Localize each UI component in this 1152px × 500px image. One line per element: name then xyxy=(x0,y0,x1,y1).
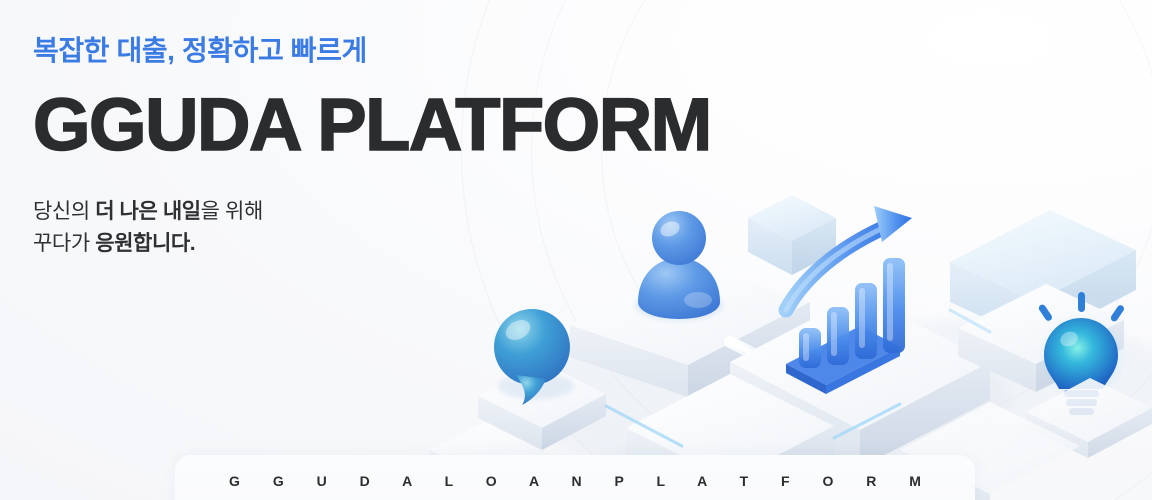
chart-bar xyxy=(855,283,877,359)
chart-bar xyxy=(827,307,849,365)
hero-tagline: 복잡한 대출, 정확하고 빠르게 xyxy=(33,34,711,68)
subtitle-line-2: 꾸다가 응원합니다. xyxy=(33,228,711,260)
subtitle-line2-normal: 꾸다가 xyxy=(33,232,95,255)
gguda-platform-hero-banner: 복잡한 대출, 정확하고 빠르게 GGUDA PLATFORM 당신의 더 나은… xyxy=(0,0,1152,500)
subtitle-line1-emphasis: 더 나은 내일 xyxy=(95,200,200,223)
chart-bar xyxy=(883,258,905,353)
subtitle-line-1: 당신의 더 나은 내일을 위해 xyxy=(33,196,711,228)
bulb-ray xyxy=(1078,292,1085,312)
speech-bubble-3d-icon xyxy=(494,309,574,405)
subtitle-line1-tail: 을 위해 xyxy=(201,200,263,223)
page-title: GGUDA PLATFORM xyxy=(33,88,711,162)
subtitle-line2-emphasis: 응원합니다. xyxy=(95,232,195,255)
hero-subtitle: 당신의 더 나은 내일을 위해 꾸다가 응원합니다. xyxy=(33,196,711,260)
chart-bar xyxy=(799,328,821,368)
hero-copy-block: 복잡한 대출, 정확하고 빠르게 GGUDA PLATFORM 당신의 더 나은… xyxy=(33,34,711,259)
wordmark-text: G G U D A L O A N P L A T F O R M xyxy=(215,473,936,489)
wordmark-card: G G U D A L O A N P L A T F O R M xyxy=(175,455,975,500)
subtitle-line1-normal: 당신의 xyxy=(33,200,95,223)
